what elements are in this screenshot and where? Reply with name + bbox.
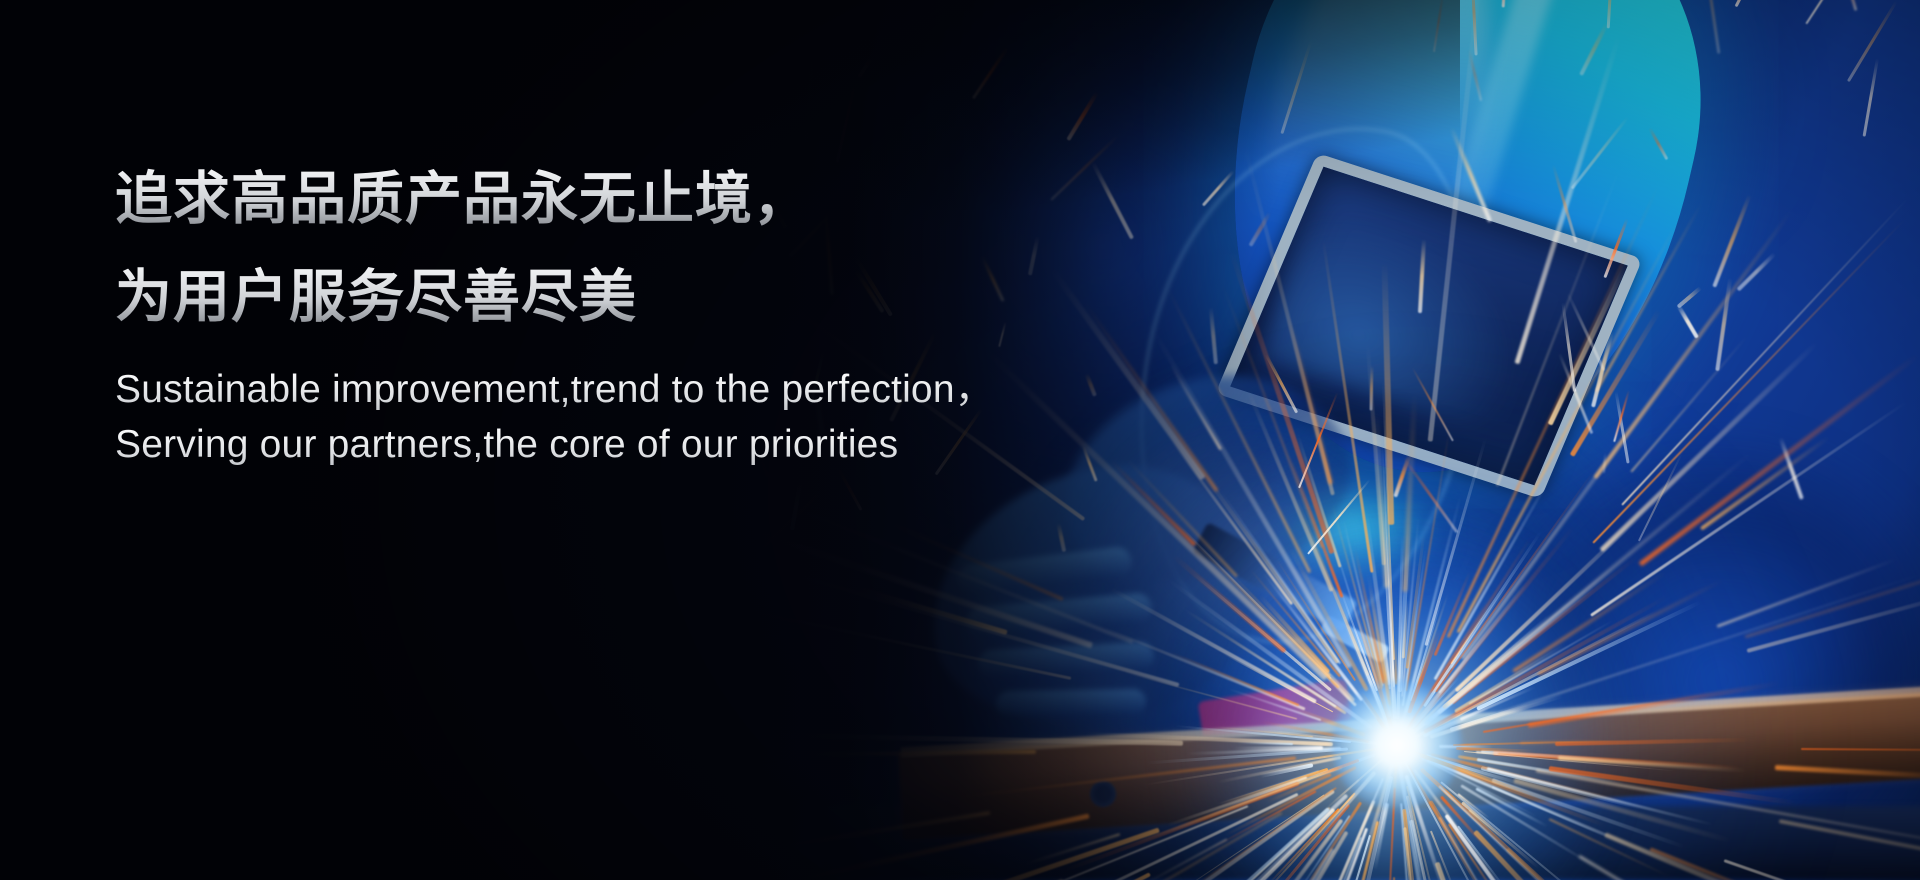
spark (1233, 746, 1323, 751)
spark (760, 811, 990, 864)
ember (1835, 0, 1857, 11)
ember (1418, 239, 1426, 313)
spark (1724, 859, 1920, 880)
ember (1298, 393, 1338, 489)
ember (1502, 0, 1509, 7)
spark (1152, 330, 1353, 669)
ember (1280, 41, 1312, 135)
spark (1457, 219, 1681, 633)
ember (1056, 523, 1065, 552)
ember (1649, 128, 1669, 161)
ember (1702, 0, 1720, 54)
ember (1028, 235, 1040, 275)
ember (998, 322, 1006, 347)
ember (1209, 307, 1218, 364)
spark (1775, 765, 1920, 779)
spark (1800, 748, 1920, 752)
spark (1639, 352, 1920, 566)
ember (804, 43, 813, 141)
ember (972, 47, 1008, 99)
ember (1201, 170, 1234, 206)
subheadline-en: Sustainable improvement,trend to the per… (115, 362, 994, 472)
spark (1590, 400, 1908, 616)
ember (1091, 162, 1133, 240)
ember (837, 469, 862, 512)
spark (1514, 35, 1621, 364)
ember (1676, 304, 1698, 339)
spark (784, 750, 1036, 757)
spark (1469, 809, 1509, 844)
hero-copy: 追求高品质产品永无止境， 为用户服务尽善尽美 Sustainable impro… (115, 150, 994, 472)
headline-cn-line-2: 为用户服务尽善尽美 (115, 248, 994, 346)
ember (1734, 0, 1762, 7)
ember (1846, 0, 1897, 81)
ember (1066, 91, 1098, 141)
spark (1604, 833, 1865, 880)
ember (1805, 0, 1836, 24)
spark (1699, 435, 1830, 531)
spark (888, 522, 1064, 602)
spark (1427, 0, 1482, 441)
subheadline-en-line-2: Serving our partners,the core of our pri… (115, 417, 994, 472)
spark (1744, 505, 1920, 638)
spark (1221, 282, 1323, 547)
arc-flash-core (1332, 680, 1462, 810)
spark (1779, 819, 1920, 880)
hero-banner: 追求高品质产品永无止境， 为用户服务尽善尽美 Sustainable impro… (0, 0, 1920, 880)
ember (1433, 0, 1445, 52)
headline-cn-line-1: 追求高品质产品永无止境， (115, 150, 994, 248)
spark (1109, 459, 1196, 546)
ember (1677, 286, 1703, 309)
spark (1746, 588, 1920, 653)
ember (1084, 373, 1096, 397)
ember (1862, 58, 1878, 136)
spark (1321, 239, 1373, 573)
subheadline-en-line-1: Sustainable improvement,trend to the per… (115, 362, 994, 417)
ember (1579, 22, 1609, 76)
spark (1527, 681, 1780, 728)
ember (836, 63, 861, 163)
spark (984, 349, 1328, 681)
